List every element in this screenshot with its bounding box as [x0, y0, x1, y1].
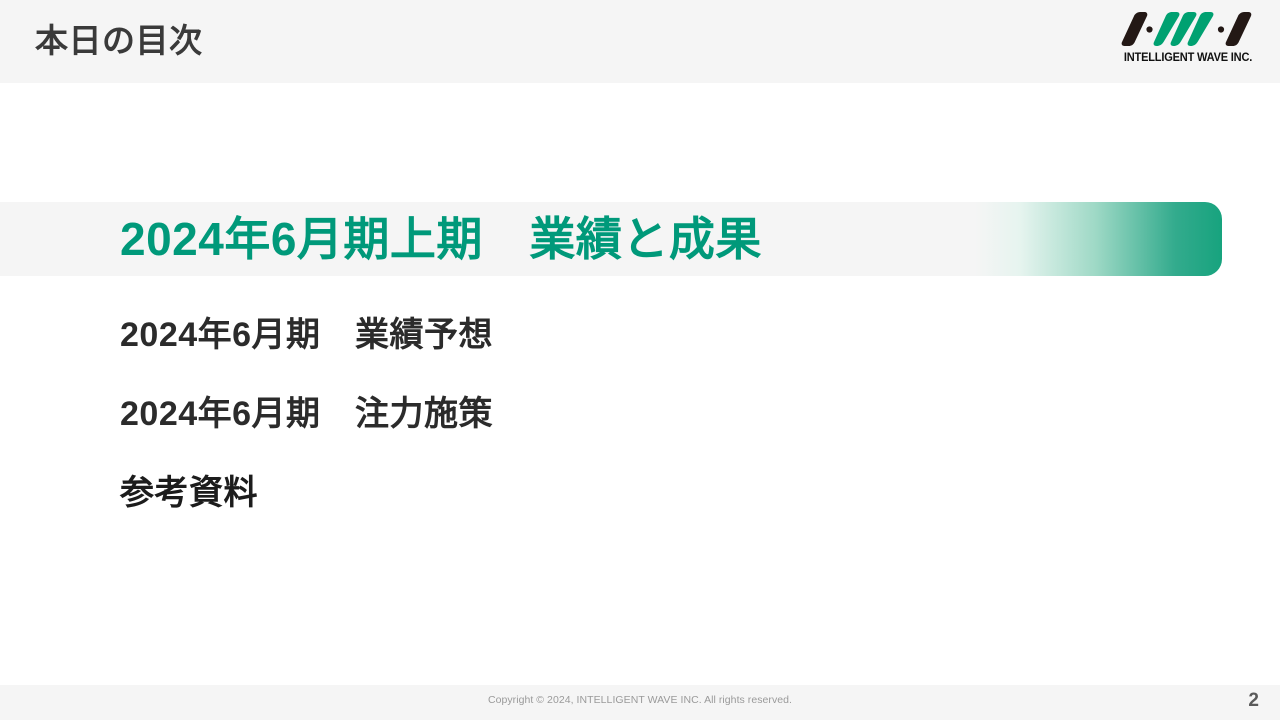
copyright-text: Copyright © 2024, INTELLIGENT WAVE INC. …	[0, 694, 1280, 706]
agenda-list: 2024年6月期 業績予想 2024年6月期 注力施策 参考資料	[120, 315, 1020, 552]
page-number: 2	[1248, 688, 1259, 714]
slide: 本日の目次 INTELLIGENT W	[0, 0, 1280, 720]
slide-footer: Copyright © 2024, INTELLIGENT WAVE INC. …	[0, 685, 1280, 720]
list-item: 2024年6月期 業績予想	[120, 315, 1020, 355]
iwi-logo-mark-icon	[1118, 8, 1258, 52]
list-item: 2024年6月期 注力施策	[120, 394, 1020, 434]
section-heading: 2024年6月期上期 業績と成果	[120, 203, 762, 275]
slide-header: 本日の目次 INTELLIGENT W	[0, 0, 1280, 83]
company-logo: INTELLIGENT WAVE INC.	[1118, 8, 1258, 74]
page-title: 本日の目次	[35, 20, 203, 62]
logo-wordmark: INTELLIGENT WAVE INC.	[1121, 52, 1255, 64]
list-item: 参考資料	[120, 473, 1020, 513]
